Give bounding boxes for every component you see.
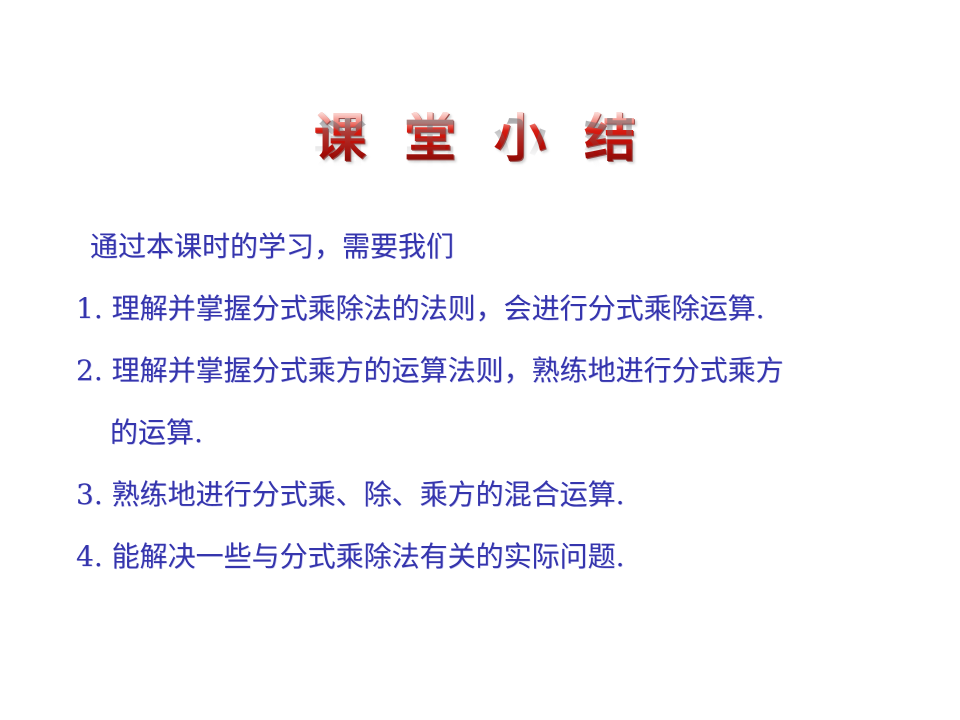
slide-title: 课 堂 小 结 课 堂 小 结 课 堂 小 结 课 堂 小 结 — [0, 112, 960, 208]
body-line-item-1: 1. 理解并掌握分式乘除法的法则，会进行分式乘除运算. — [0, 278, 960, 340]
title-extrude-layer: 课 堂 小 结 — [316, 114, 648, 169]
title-wordart-stack: 课 堂 小 结 课 堂 小 结 课 堂 小 结 课 堂 小 结 — [314, 112, 646, 167]
body-line-item-2-continued: 的运算. — [0, 402, 960, 464]
title-face-layer: 课 堂 小 结 — [314, 112, 646, 167]
slide-canvas: 课 堂 小 结 课 堂 小 结 课 堂 小 结 课 堂 小 结 通过本课时的学习… — [0, 0, 960, 720]
title-reflection-layer: 课 堂 小 结 — [314, 112, 646, 167]
body-line-intro: 通过本课时的学习，需要我们 — [0, 216, 960, 278]
title-gloss-layer: 课 堂 小 结 — [314, 112, 646, 167]
body-line-item-4: 4. 能解决一些与分式乘除法有关的实际问题. — [0, 526, 960, 588]
body-line-item-3: 3. 熟练地进行分式乘、除、乘方的混合运算. — [0, 464, 960, 526]
body-line-item-2: 2. 理解并掌握分式乘方的运算法则，熟练地进行分式乘方 — [0, 340, 960, 402]
slide-body: 通过本课时的学习，需要我们 1. 理解并掌握分式乘除法的法则，会进行分式乘除运算… — [0, 216, 960, 588]
